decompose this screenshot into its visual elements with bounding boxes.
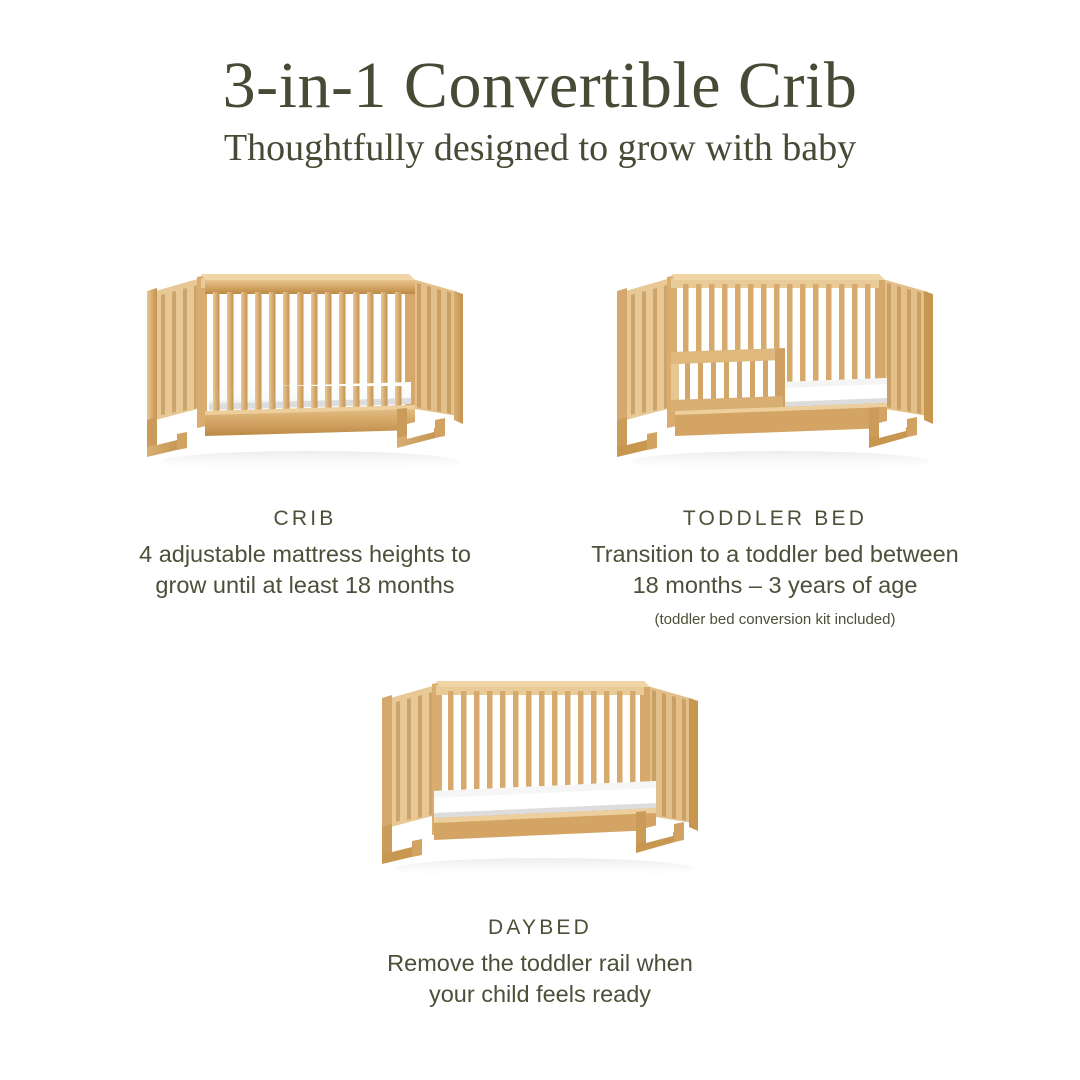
panel-row-bottom: DAYBED Remove the toddler rail when your… [0, 655, 1080, 1011]
infographic-page: 3-in-1 Convertible Crib Thoughtfully des… [0, 0, 1080, 1080]
page-title: 3-in-1 Convertible Crib [0, 52, 1080, 119]
caption-body: Remove the toddler rail when your child … [325, 948, 755, 1011]
caption-daybed: DAYBED Remove the toddler rail when your… [325, 890, 755, 1011]
caption-note: (toddler bed conversion kit included) [560, 611, 990, 628]
caption-body: 4 adjustable mattress heights to grow un… [90, 539, 520, 602]
panel-crib: CRIB 4 adjustable mattress heights to gr… [70, 248, 540, 602]
panel-daybed: DAYBED Remove the toddler rail when your… [305, 655, 775, 1011]
header: 3-in-1 Convertible Crib Thoughtfully des… [0, 0, 1080, 169]
daybed-illustration [360, 655, 720, 890]
caption-title: TODDLER BED [560, 507, 990, 531]
panel-toddler-bed: TODDLER BED Transition to a toddler bed … [540, 248, 1010, 628]
crib-illustration [125, 248, 485, 483]
toddler-bed-illustration [595, 248, 955, 483]
caption-crib: CRIB 4 adjustable mattress heights to gr… [90, 483, 520, 602]
caption-body: Transition to a toddler bed between 18 m… [560, 539, 990, 602]
caption-title: DAYBED [325, 916, 755, 940]
caption-title: CRIB [90, 507, 520, 531]
page-subtitle: Thoughtfully designed to grow with baby [0, 129, 1080, 169]
panel-row-top: CRIB 4 adjustable mattress heights to gr… [0, 248, 1080, 628]
caption-toddler-bed: TODDLER BED Transition to a toddler bed … [560, 483, 990, 628]
